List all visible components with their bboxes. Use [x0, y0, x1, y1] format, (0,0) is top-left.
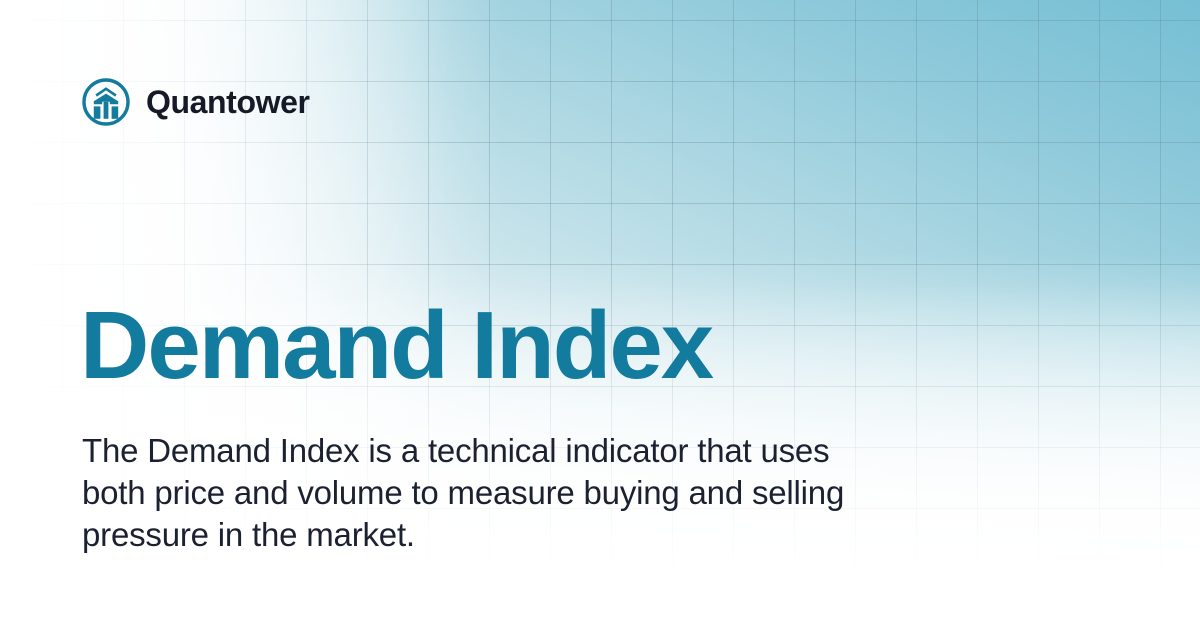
- banner-content: Quantower Demand Index The Demand Index …: [0, 0, 1200, 630]
- brand-lockup[interactable]: Quantower: [82, 78, 310, 126]
- page-title: Demand Index: [80, 296, 712, 397]
- quantower-logo-icon: [82, 78, 130, 126]
- promo-banner: Quantower Demand Index The Demand Index …: [0, 0, 1200, 630]
- page-description: The Demand Index is a technical indicato…: [82, 430, 872, 556]
- brand-name: Quantower: [146, 86, 310, 118]
